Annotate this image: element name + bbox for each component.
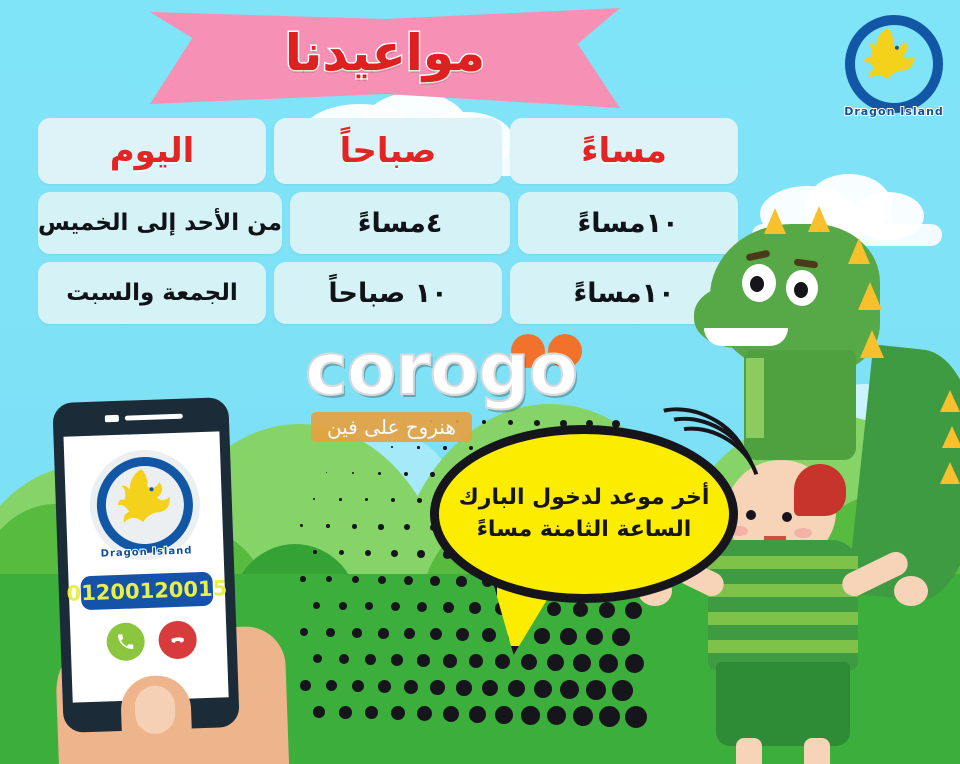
table-row: من الأحد إلى الخميس ٤مساءً ١٠مساءً [38,192,738,254]
phone-call-icon[interactable] [106,622,145,661]
cell-day: من الأحد إلى الخميس [38,192,282,254]
dino-smile [704,328,788,346]
logo-caption: Dragon Island [91,545,201,560]
column-header-day: اليوم [38,118,266,184]
cell-evening-value: ١٠مساءً [573,278,674,309]
dino-eye-left [742,264,776,302]
cell-morning-value: ١٠ صباحاً [328,278,447,309]
cell-morning: ١٠ صباحاً [274,262,502,324]
shirt-stripe [708,584,858,597]
phone-number-badge[interactable]: 01200120015 [80,572,213,611]
column-header-evening-label: مساءً [581,131,667,171]
column-header-day-label: اليوم [110,131,195,171]
logo-caption: Dragon Island [838,105,950,118]
shirt-stripe [708,556,858,569]
phone-hangup-icon[interactable] [158,620,197,659]
cell-morning: ٤مساءً [290,192,510,254]
column-header-morning-label: صباحاً [340,131,437,171]
boy-leg-left [736,738,762,764]
column-header-morning: صباحاً [274,118,502,184]
phone-screen: Dragon Island 01200120015 [63,431,228,702]
dragon-head-icon [108,463,178,535]
phone-mockup: Dragon Island 01200120015 [52,397,239,733]
dino-pupil [794,282,808,298]
cell-day: الجمعة والسبت [38,262,266,324]
boy-shorts [716,662,850,746]
phone-hangup-glyph [167,630,188,651]
dino-hood-highlight [746,358,764,438]
shirt-stripe [708,640,858,653]
schedule-table: اليوم صباحاً مساءً من الأحد إلى الخميس ٤… [38,118,738,332]
speech-bubble: أخر موعد لدخول البارك الساعة الثامنة مسا… [430,415,730,635]
dino-pupil [750,276,764,292]
watermark-tagline: هنروح على فين [311,412,472,442]
phone-camera-icon [105,415,119,422]
notice-line-2: الساعة الثامنة مساءً [459,514,710,546]
table-row: الجمعة والسبت ١٠ صباحاً ١٠مساءً [38,262,738,324]
dragon-island-logo: Dragon Island [88,448,202,562]
watermark-wordmark: corogo [305,330,645,408]
banner: مواعيدنا مواعيدنا [150,8,620,116]
boy-eye [782,512,792,522]
boy-hair [794,464,846,516]
dino-spike [764,208,786,234]
table-header-row: اليوم صباحاً مساءً [38,118,738,184]
dino-eye-right [786,270,818,306]
thumbnail-illustration [134,685,176,734]
watermark: corogo هنروح على فين [305,330,645,440]
boy-leg-right [804,738,830,764]
cell-day-value: من الأحد إلى الخميس [38,210,282,236]
boy-hand-right [894,576,928,606]
dragon-island-logo: Dragon Island [838,8,950,120]
notice-text: أخر موعد لدخول البارك الساعة الثامنة مسا… [441,482,728,546]
dragon-head-icon [856,22,922,92]
dino-spike [808,206,830,232]
speech-bubble-body: أخر موعد لدخول البارك الساعة الثامنة مسا… [430,425,738,603]
page-title: مواعيدنا [150,22,620,84]
cell-morning-value: ٤مساءً [358,208,443,239]
column-header-evening: مساءً [510,118,738,184]
cell-evening-value: ١٠مساءً [577,208,678,239]
phone-call-glyph [115,631,136,652]
shirt-stripe [708,612,858,625]
cell-day-value: الجمعة والسبت [66,280,237,306]
boy-cheek [794,528,812,538]
notice-line-1: أخر موعد لدخول البارك [459,482,710,514]
poster-canvas: مواعيدنا مواعيدنا Dragon Island اليوم صب… [0,0,960,764]
